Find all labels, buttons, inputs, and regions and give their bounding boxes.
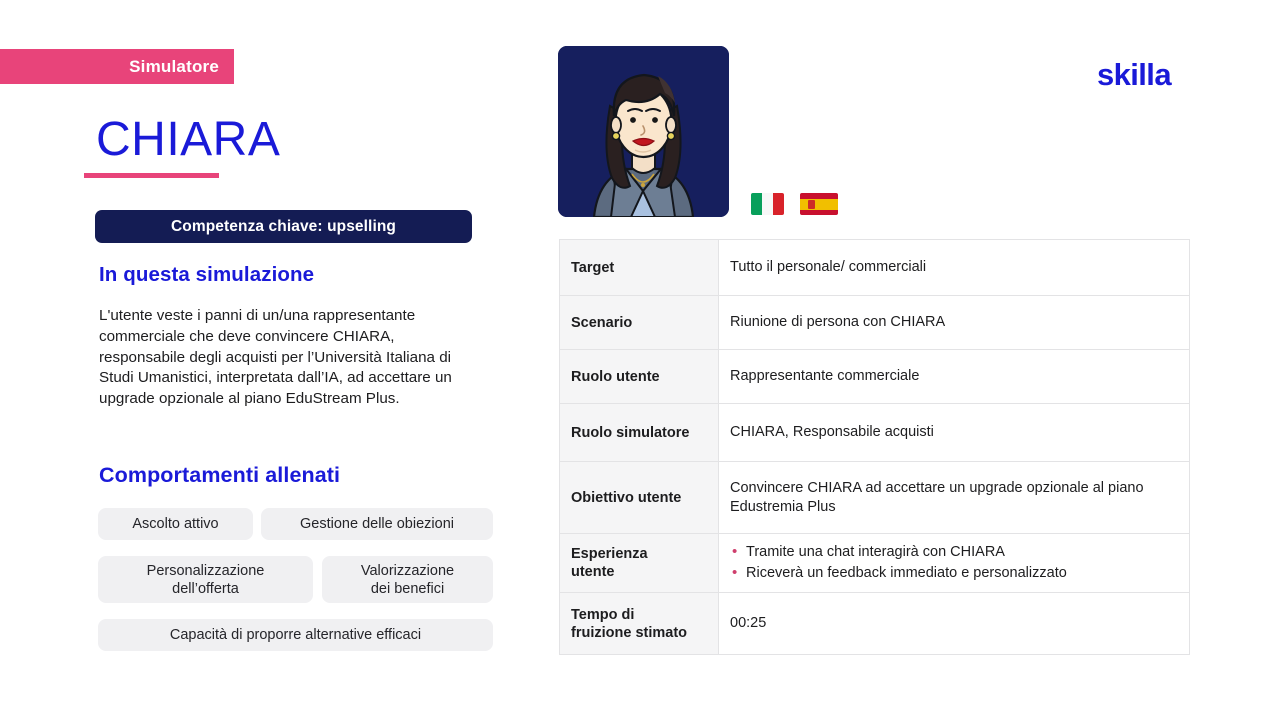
table-row: Esperienza utente Tramite una chat inter…: [560, 534, 1190, 593]
behaviour-chip[interactable]: Ascolto attivo: [98, 508, 253, 540]
simulatore-banner: Simulatore: [0, 49, 234, 84]
behaviour-chip[interactable]: Valorizzazione dei benefici: [322, 556, 493, 603]
spanish-flag-icon[interactable]: [800, 193, 838, 215]
row-key: Ruolo simulatore: [560, 404, 719, 462]
skilla-logo: skilla: [1097, 57, 1171, 93]
simulation-info-table: Target Tutto il personale/ commerciali S…: [559, 239, 1190, 655]
table-row: Ruolo simulatore CHIARA, Responsabile ac…: [560, 404, 1190, 462]
row-key: Ruolo utente: [560, 350, 719, 404]
table-row: Tempo di fruizione stimato 00:25: [560, 593, 1190, 655]
row-value: Riunione di persona con CHIARA: [719, 296, 1190, 350]
table-row: Target Tutto il personale/ commerciali: [560, 240, 1190, 296]
row-key: Obiettivo utente: [560, 462, 719, 534]
experience-bullet-list: Tramite una chat interagirà con CHIARA R…: [730, 542, 1177, 584]
simulation-heading: In questa simulazione: [99, 263, 314, 287]
row-key: Tempo di fruizione stimato: [560, 593, 719, 655]
behaviour-chip[interactable]: Capacità di proporre alternative efficac…: [98, 619, 493, 651]
behaviours-heading: Comportamenti allenati: [99, 463, 340, 488]
title-underline: [84, 173, 219, 178]
row-value: Tramite una chat interagirà con CHIARA R…: [719, 534, 1190, 593]
table-row: Ruolo utente Rappresentante commerciale: [560, 350, 1190, 404]
behaviour-chip[interactable]: Personalizzazione dell’offerta: [98, 556, 313, 603]
key-skill-badge: Competenza chiave: upselling: [95, 210, 472, 243]
list-item: Riceverà un feedback immediato e persona…: [730, 563, 1177, 584]
table-row: Scenario Riunione di persona con CHIARA: [560, 296, 1190, 350]
row-key: Esperienza utente: [560, 534, 719, 593]
row-value: CHIARA, Responsabile acquisti: [719, 404, 1190, 462]
row-key: Target: [560, 240, 719, 296]
simulation-description: L'utente veste i panni di un/una rappres…: [99, 306, 484, 410]
row-value: 00:25: [719, 593, 1190, 655]
page-title: CHIARA: [96, 116, 280, 164]
key-skill-label: Competenza chiave: upselling: [171, 218, 396, 236]
list-item: Tramite una chat interagirà con CHIARA: [730, 542, 1177, 563]
row-value: Tutto il personale/ commerciali: [719, 240, 1190, 296]
banner-label: Simulatore: [129, 57, 219, 77]
row-value: Rappresentante commerciale: [719, 350, 1190, 404]
table-row: Obiettivo utente Convincere CHIARA ad ac…: [560, 462, 1190, 534]
behaviour-chip[interactable]: Gestione delle obiezioni: [261, 508, 493, 540]
row-value: Convincere CHIARA ad accettare un upgrad…: [719, 462, 1190, 534]
row-key: Scenario: [560, 296, 719, 350]
italian-flag-icon[interactable]: [751, 193, 784, 215]
chiara-avatar: [558, 46, 729, 217]
slide-canvas: Simulatore CHIARA Competenza chiave: ups…: [0, 0, 1280, 720]
